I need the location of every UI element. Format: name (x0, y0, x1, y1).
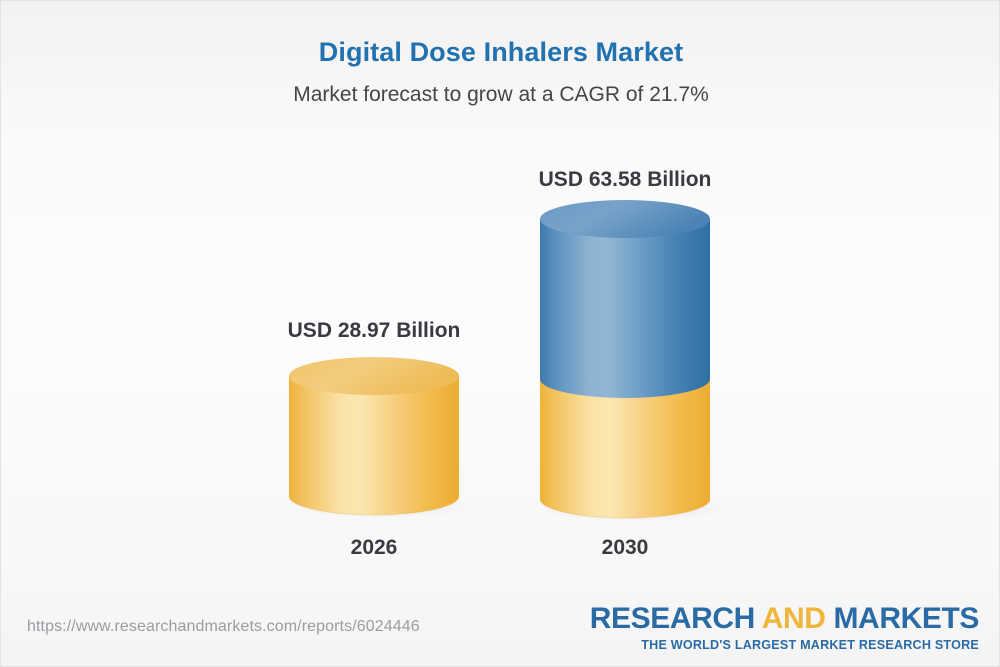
value-label-2030: USD 63.58 Billion (465, 168, 785, 192)
chart-footer: https://www.researchandmarkets.com/repor… (1, 594, 1000, 666)
brand-logo: RESEARCH AND MARKETS THE WORLD'S LARGEST… (590, 602, 979, 652)
chart-canvas: Digital Dose Inhalers Market Market fore… (0, 0, 1000, 667)
brand-word-and: AND (762, 602, 826, 635)
brand-word-markets: MARKETS (833, 602, 979, 635)
bar-group-2030: USD 63.58 Billion (465, 161, 785, 561)
brand-tagline: THE WORLD'S LARGEST MARKET RESEARCH STOR… (590, 638, 979, 652)
cylinder-2030 (465, 194, 785, 524)
category-label-2030: 2030 (465, 536, 785, 560)
brand-word-research: RESEARCH (590, 602, 755, 635)
source-url[interactable]: https://www.researchandmarkets.com/repor… (27, 618, 420, 636)
brand-name: RESEARCH AND MARKETS (590, 602, 979, 636)
plot-area: USD 28.97 Billion (1, 1, 1000, 601)
